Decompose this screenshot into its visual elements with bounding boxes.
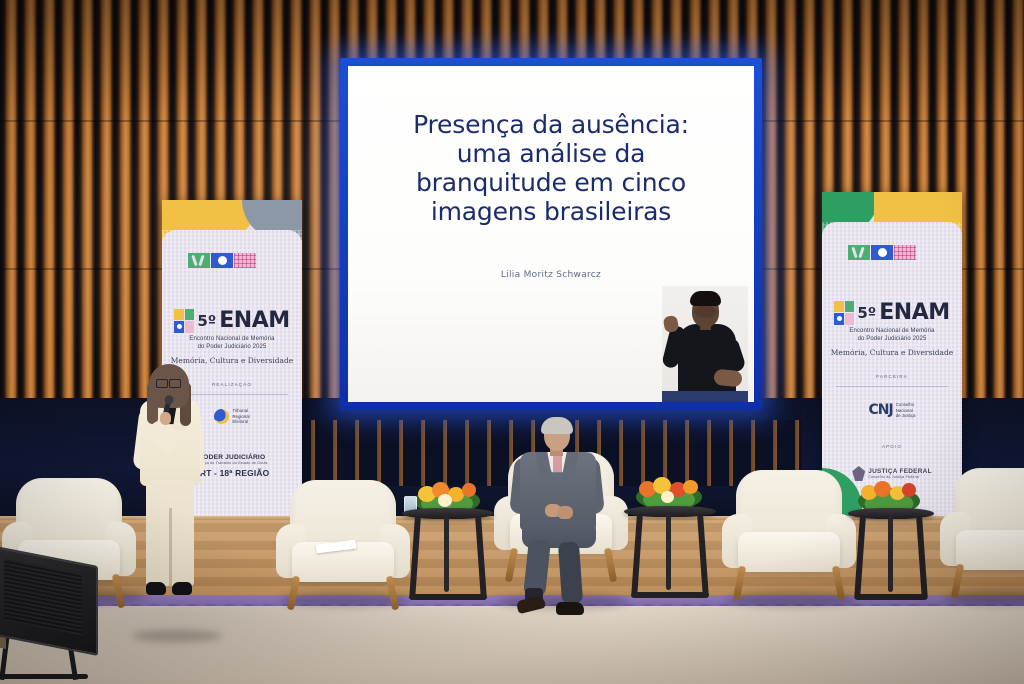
speaker-shadow: [132, 630, 222, 642]
banner-left-wordmark: ENAM: [219, 308, 289, 333]
table-leg: [631, 514, 643, 598]
table-leg: [444, 516, 449, 592]
armchair-leg: [386, 576, 399, 611]
banner-left-logo: 5º ENAM Encontro Nacional de Memória do …: [162, 308, 302, 365]
standing-speaker: [128, 368, 220, 600]
armchair-2[interactable]: [276, 480, 410, 610]
table-leg: [697, 514, 709, 598]
banner-right-logo: 5º ENAM Encontro Nacional de Memória do …: [822, 300, 962, 357]
armchair-leg: [832, 566, 845, 601]
panelist-hair: [541, 417, 573, 434]
table-leg: [475, 516, 487, 600]
side-table-3[interactable]: [848, 508, 934, 604]
banner-right-kicker-partner: PARCEIRA: [822, 374, 962, 379]
interpreter-inset-base: [662, 391, 748, 402]
panelist-shoe: [516, 595, 546, 614]
banner-left-tagline: Memória, Cultura e Diversidade: [162, 356, 302, 365]
armchair-leg: [287, 576, 300, 611]
flower: [462, 483, 476, 497]
flower-arrangement-2: [636, 474, 702, 510]
seated-panelist: [512, 420, 608, 620]
speaker-trouser-seam: [169, 508, 172, 586]
table-leg: [409, 516, 421, 600]
table-leg: [888, 516, 893, 592]
interpreter-right-hand: [713, 369, 743, 388]
armchair-seat: [956, 530, 1024, 570]
flower: [874, 481, 891, 497]
speaker-hand: [160, 412, 171, 425]
enam-mark-icon: [834, 301, 854, 325]
table-foot-rail: [409, 594, 486, 600]
slide-author: Lilia Moritz Schwarcz: [348, 270, 754, 280]
banner-left-org-name: Tribunal Regional Eleitoral: [232, 408, 249, 425]
leaf-icon: [848, 245, 870, 260]
flower: [902, 483, 916, 497]
grid-icon: [894, 245, 916, 260]
table-leg: [855, 516, 867, 600]
conference-stage-photo: Presença da ausência: uma análise da bra…: [0, 0, 1024, 684]
eyeglasses-icon: [156, 379, 181, 386]
slide-title: Presença da ausência: uma análise da bra…: [348, 110, 754, 226]
flower: [661, 491, 674, 503]
armchair-leg: [951, 564, 964, 599]
armchair-leg: [733, 566, 746, 601]
banner-left-icon-tiles: [188, 253, 256, 268]
side-table-1[interactable]: [402, 508, 494, 606]
banner-left-subtitle: Encontro Nacional de Memória do Poder Ju…: [162, 335, 302, 351]
armchair-leg: [112, 574, 125, 609]
flower: [438, 494, 452, 507]
interpreter-face-shadow: [695, 305, 716, 318]
flower-arrangement-3: [858, 478, 920, 512]
banner-right-kicker-support: APOIO: [822, 444, 962, 449]
enam-mark-icon: [174, 309, 194, 333]
interpreter-hair: [690, 291, 721, 306]
monitor-base: [0, 674, 88, 679]
banner-right-tagline: Memória, Cultura e Diversidade: [822, 348, 962, 357]
banner-right-partner-name: Conselho Nacional de Justiça: [896, 402, 916, 419]
table-leg: [916, 516, 928, 600]
libras-interpreter-inset: [662, 286, 748, 402]
armchair-seat: [738, 532, 840, 572]
banner-right-number: 5º: [857, 304, 876, 322]
panelist-hand: [557, 506, 573, 519]
table-foot-rail: [855, 594, 927, 600]
armchair-4[interactable]: [722, 470, 856, 600]
side-table-2[interactable]: [624, 506, 716, 604]
banner-left-number: 5º: [197, 312, 216, 330]
projection-screen: Presença da ausência: uma análise da bra…: [348, 66, 754, 402]
speaker-shoe: [172, 582, 192, 595]
flower: [683, 480, 698, 494]
stage-monitor[interactable]: [0, 556, 104, 674]
table-leg: [666, 514, 671, 590]
table-foot-rail: [631, 592, 708, 598]
banner-right-subtitle: Encontro Nacional de Memória do Poder Ju…: [822, 327, 962, 343]
armchair-5[interactable]: [940, 468, 1024, 598]
grid-icon: [234, 253, 256, 268]
eye-icon: [211, 253, 233, 268]
panelist-shoe: [556, 602, 584, 615]
banner-right-rule-1: [836, 386, 948, 387]
banner-right-icon-tiles: [848, 245, 916, 260]
banner-right-partner: CNJ Conselho Nacional de Justiça: [822, 402, 962, 419]
leaf-icon: [188, 253, 210, 268]
banner-right-wordmark: ENAM: [879, 300, 949, 325]
panelist-shin: [558, 541, 583, 604]
speaker-shoe: [146, 582, 166, 595]
cnj-logo: CNJ: [869, 402, 893, 418]
banner-right-support-name: JUSTIÇA FEDERAL: [868, 468, 932, 475]
eye-icon: [871, 245, 893, 260]
